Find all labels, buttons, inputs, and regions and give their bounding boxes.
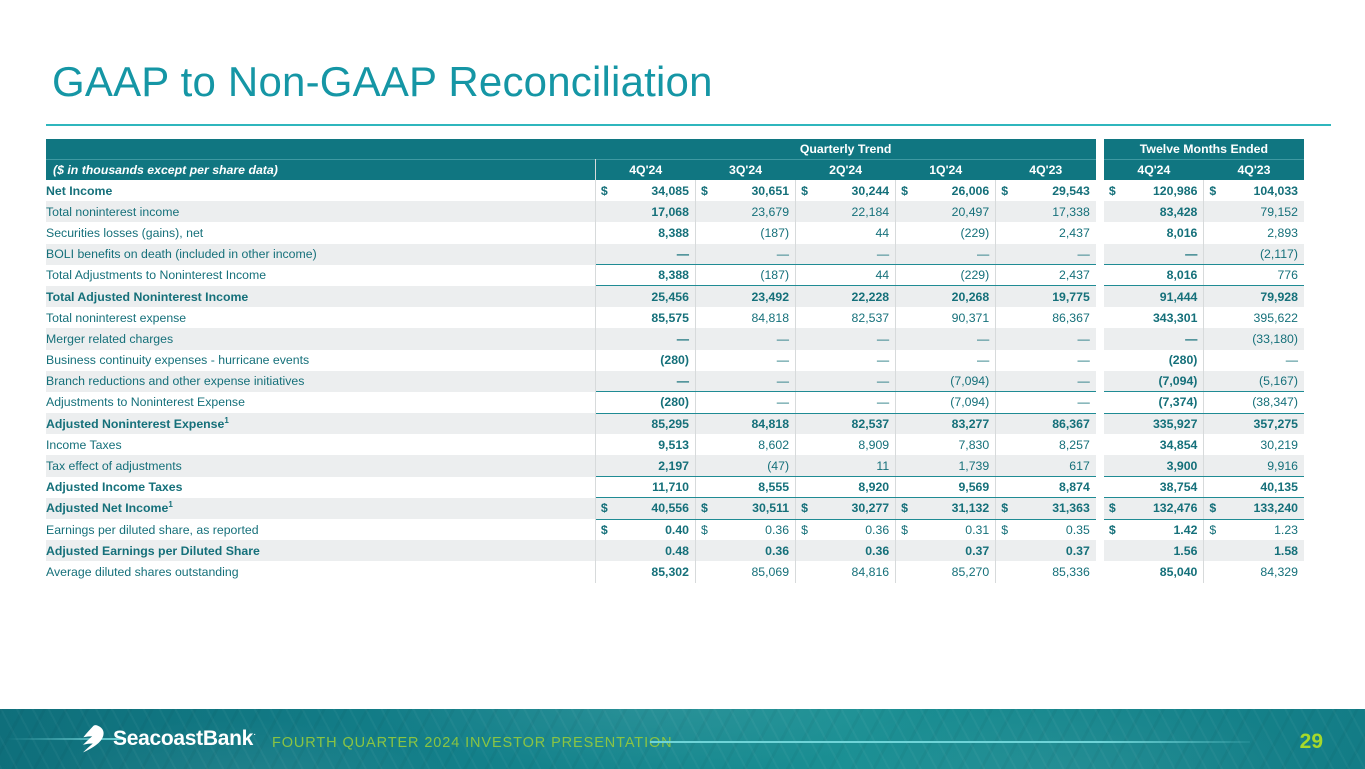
cell-value: 85,575 — [651, 311, 689, 325]
cell-value: 0.37 — [1066, 544, 1090, 558]
cell-q-2: 44 — [796, 265, 896, 286]
cell-value: — — [977, 353, 989, 367]
cell-q-0: (280) — [595, 392, 695, 413]
cell-q-1: $30,511 — [696, 498, 796, 519]
col-header-q-0: 4Q'24 — [595, 159, 695, 180]
column-group-gap — [1096, 477, 1104, 498]
cell-value: — — [1078, 353, 1090, 367]
cell-t-1: 30,219 — [1204, 434, 1304, 455]
cell-q-1: — — [696, 392, 796, 413]
cell-t-1: 2,893 — [1204, 222, 1304, 243]
cell-value: 31,363 — [1052, 501, 1090, 515]
cell-value: 34,085 — [651, 184, 689, 198]
cell-q-2: 8,920 — [796, 477, 896, 498]
column-group-gap — [1096, 265, 1104, 286]
col-header-q-2: 2Q'24 — [796, 159, 896, 180]
cell-value: 86,367 — [1052, 311, 1090, 325]
currency-symbol: $ — [801, 184, 808, 198]
cell-t-0: (7,374) — [1104, 392, 1204, 413]
currency-symbol: $ — [1001, 184, 1008, 198]
cell-t-0: 335,927 — [1104, 413, 1204, 434]
cell-t-1: 9,916 — [1204, 455, 1304, 476]
currency-symbol: $ — [1001, 501, 1008, 515]
cell-value: 776 — [1277, 268, 1298, 282]
table-row: Tax effect of adjustments2,197(47)111,73… — [46, 455, 1304, 476]
cell-value: 11 — [876, 459, 889, 473]
cell-t-0: (7,094) — [1104, 371, 1204, 392]
column-group-gap — [1096, 455, 1104, 476]
cell-value: 9,916 — [1267, 459, 1298, 473]
footer-brand-text: SeacoastBank — [113, 727, 253, 750]
cell-value: 30,219 — [1260, 438, 1298, 452]
cell-value: 84,818 — [751, 311, 789, 325]
cell-t-1: 357,275 — [1204, 413, 1304, 434]
row-label: Total noninterest expense — [46, 307, 595, 328]
cell-q-3: 85,270 — [896, 561, 996, 582]
cell-q-1: 23,679 — [696, 201, 796, 222]
footer-rule-right — [650, 741, 1250, 743]
cell-q-4: $31,363 — [996, 498, 1096, 519]
cell-q-0: 8,388 — [595, 265, 695, 286]
cell-t-1: 79,928 — [1204, 286, 1304, 307]
cell-value: 104,033 — [1254, 184, 1298, 198]
currency-symbol: $ — [1209, 184, 1216, 198]
cell-value: 0.36 — [765, 523, 789, 537]
cell-q-4: 85,336 — [996, 561, 1096, 582]
cell-value: 85,270 — [952, 565, 990, 579]
cell-t-0: $1.42 — [1104, 519, 1204, 540]
cell-q-4: 8,257 — [996, 434, 1096, 455]
cell-value: 0.48 — [665, 544, 689, 558]
cell-value: 91,444 — [1160, 290, 1198, 304]
table-row: Adjustments to Noninterest Expense(280)—… — [46, 392, 1304, 413]
cell-q-0: — — [595, 371, 695, 392]
table-row: Merger related charges——————(33,180) — [46, 328, 1304, 349]
cell-value: 1.56 — [1173, 544, 1197, 558]
cell-t-1: 776 — [1204, 265, 1304, 286]
cell-value: 7,830 — [958, 438, 989, 452]
cell-value: 85,336 — [1052, 565, 1090, 579]
cell-value: 85,069 — [751, 565, 789, 579]
col-header-t-0: 4Q'24 — [1104, 159, 1204, 180]
cell-q-2: — — [796, 350, 896, 371]
column-group-gap — [1096, 413, 1104, 434]
cell-t-0: 343,301 — [1104, 307, 1204, 328]
column-group-gap — [1096, 434, 1104, 455]
financial-table-container: Quarterly Trend Twelve Months Ended ($ i… — [46, 139, 1304, 583]
cell-value: 1,739 — [958, 459, 989, 473]
cell-value: 357,275 — [1254, 417, 1298, 431]
row-label: Adjusted Net Income1 — [46, 498, 595, 519]
cell-value: 8,555 — [758, 480, 789, 494]
cell-value: 1.42 — [1173, 523, 1197, 537]
row-label: Total noninterest income — [46, 201, 595, 222]
cell-q-1: 23,492 — [696, 286, 796, 307]
row-label: Average diluted shares outstanding — [46, 561, 595, 582]
column-group-gap — [1096, 540, 1104, 561]
cell-value: 2,437 — [1059, 268, 1090, 282]
row-label: BOLI benefits on death (included in othe… — [46, 244, 595, 265]
cell-value: 86,367 — [1052, 417, 1090, 431]
table-row: Adjusted Noninterest Expense185,29584,81… — [46, 413, 1304, 434]
footer-logo: SeacoastBank· — [80, 725, 256, 753]
cell-value: — — [977, 247, 989, 261]
cell-q-0: $0.40 — [595, 519, 695, 540]
cell-q-4: — — [996, 244, 1096, 265]
cell-value: 25,456 — [651, 290, 689, 304]
cell-value: (229) — [961, 226, 990, 240]
gaap-reconciliation-table: Quarterly Trend Twelve Months Ended ($ i… — [46, 139, 1304, 583]
cell-value: 85,302 — [651, 565, 689, 579]
cell-q-3: 20,497 — [896, 201, 996, 222]
cell-q-0: 85,295 — [595, 413, 695, 434]
cell-t-0: 91,444 — [1104, 286, 1204, 307]
cell-q-2: — — [796, 392, 896, 413]
cell-t-0: 85,040 — [1104, 561, 1204, 582]
row-label: Merger related charges — [46, 328, 595, 349]
column-group-gap — [1096, 519, 1104, 540]
cell-value: 120,986 — [1153, 184, 1197, 198]
cell-t-1: (2,117) — [1204, 244, 1304, 265]
column-group-gap — [1096, 498, 1104, 519]
cell-q-3: 83,277 — [896, 413, 996, 434]
cell-t-0: $132,476 — [1104, 498, 1204, 519]
cell-value: — — [1078, 374, 1090, 388]
cell-value: (38,347) — [1252, 395, 1298, 409]
cell-value: 79,928 — [1260, 290, 1298, 304]
cell-q-2: $30,244 — [796, 180, 896, 201]
cell-value: — — [777, 247, 789, 261]
cell-value: 343,301 — [1153, 311, 1197, 325]
cell-value: 0.36 — [865, 544, 889, 558]
footer-trademark: · — [253, 729, 256, 740]
row-label: Total Adjusted Noninterest Income — [46, 286, 595, 307]
footnote-marker: 1 — [224, 416, 228, 425]
cell-q-2: 8,909 — [796, 434, 896, 455]
table-row: BOLI benefits on death (included in othe… — [46, 244, 1304, 265]
currency-symbol: $ — [701, 523, 708, 537]
cell-value: 0.35 — [1066, 523, 1090, 537]
cell-value: 9,569 — [958, 480, 989, 494]
cell-t-1: $104,033 — [1204, 180, 1304, 201]
table-row: Income Taxes9,5138,6028,9097,8308,25734,… — [46, 434, 1304, 455]
cell-value: 23,679 — [751, 205, 789, 219]
cell-value: 79,152 — [1260, 205, 1298, 219]
cell-value: 23,492 — [751, 290, 789, 304]
cell-value: — — [777, 332, 789, 346]
col-header-q-1: 3Q'24 — [696, 159, 796, 180]
page-title: GAAP to Non-GAAP Reconciliation — [52, 58, 713, 106]
cell-q-1: — — [696, 244, 796, 265]
column-group-gap — [1096, 307, 1104, 328]
cell-q-2: — — [796, 371, 896, 392]
cell-q-1: $0.36 — [696, 519, 796, 540]
cell-q-2: 44 — [796, 222, 896, 243]
cell-value: 8,016 — [1167, 268, 1198, 282]
cell-value: (7,094) — [950, 374, 989, 388]
cell-t-0: 1.56 — [1104, 540, 1204, 561]
cell-value: — — [677, 332, 689, 346]
group-header-blank — [46, 139, 595, 159]
cell-value: 85,295 — [651, 417, 689, 431]
row-label: Adjusted Noninterest Expense1 — [46, 413, 595, 434]
cell-q-2: 0.36 — [796, 540, 896, 561]
row-label: Branch reductions and other expense init… — [46, 371, 595, 392]
col-header-gap — [1096, 159, 1104, 180]
cell-value: 20,268 — [952, 290, 990, 304]
cell-value: 84,818 — [751, 417, 789, 431]
cell-q-1: $30,651 — [696, 180, 796, 201]
cell-value: 84,329 — [1260, 565, 1298, 579]
cell-q-0: 8,388 — [595, 222, 695, 243]
cell-q-0: $34,085 — [595, 180, 695, 201]
cell-q-1: 8,555 — [696, 477, 796, 498]
cell-t-0: $120,986 — [1104, 180, 1204, 201]
cell-value: 34,854 — [1160, 438, 1198, 452]
cell-q-1: 85,069 — [696, 561, 796, 582]
cell-q-3: — — [896, 244, 996, 265]
table-row: Average diluted shares outstanding85,302… — [46, 561, 1304, 582]
cell-q-1: 0.36 — [696, 540, 796, 561]
cell-value: 0.40 — [665, 523, 689, 537]
cell-value: 83,428 — [1160, 205, 1198, 219]
cell-q-4: 86,367 — [996, 307, 1096, 328]
cell-value: — — [1185, 332, 1197, 346]
cell-q-0: 85,302 — [595, 561, 695, 582]
currency-symbol: $ — [601, 184, 608, 198]
table-column-header-row: ($ in thousands except per share data) 4… — [46, 159, 1304, 180]
currency-symbol: $ — [1209, 501, 1216, 515]
cell-value: 40,556 — [651, 501, 689, 515]
footer-subtitle: FOURTH QUARTER 2024 INVESTOR PRESENTATIO… — [272, 735, 673, 751]
cell-value: 8,388 — [658, 226, 689, 240]
row-label: Business continuity expenses - hurricane… — [46, 350, 595, 371]
cell-value: 0.36 — [865, 523, 889, 537]
cell-q-1: — — [696, 328, 796, 349]
cell-value: (187) — [760, 268, 789, 282]
table-group-header-row: Quarterly Trend Twelve Months Ended — [46, 139, 1304, 159]
cell-q-1: — — [696, 350, 796, 371]
currency-symbol: $ — [901, 501, 908, 515]
cell-value: 1.58 — [1274, 544, 1298, 558]
cell-q-3: 0.37 — [896, 540, 996, 561]
currency-symbol: $ — [601, 523, 608, 537]
currency-symbol: $ — [1109, 501, 1116, 515]
table-row: Total noninterest expense85,57584,81882,… — [46, 307, 1304, 328]
cell-t-0: 8,016 — [1104, 222, 1204, 243]
cell-q-4: — — [996, 328, 1096, 349]
currency-symbol: $ — [701, 184, 708, 198]
cell-q-3: (7,094) — [896, 371, 996, 392]
cell-t-0: 8,016 — [1104, 265, 1204, 286]
cell-q-2: $0.36 — [796, 519, 896, 540]
cell-q-4: 2,437 — [996, 222, 1096, 243]
cell-value: 3,900 — [1167, 459, 1198, 473]
cell-q-0: $40,556 — [595, 498, 695, 519]
cell-q-4: 86,367 — [996, 413, 1096, 434]
cell-q-0: (280) — [595, 350, 695, 371]
cell-q-3: $31,132 — [896, 498, 996, 519]
cell-value: 11,710 — [652, 480, 689, 494]
cell-q-3: 90,371 — [896, 307, 996, 328]
cell-q-2: — — [796, 244, 896, 265]
column-group-gap — [1096, 328, 1104, 349]
cell-value: 1.23 — [1274, 523, 1298, 537]
cell-value: 8,257 — [1059, 438, 1090, 452]
cell-q-0: 11,710 — [595, 477, 695, 498]
footnote-marker: 1 — [168, 500, 172, 509]
cell-q-3: (7,094) — [896, 392, 996, 413]
col-header-q-4: 4Q'23 — [996, 159, 1096, 180]
cell-t-1: 84,329 — [1204, 561, 1304, 582]
cell-value: 8,602 — [758, 438, 789, 452]
cell-q-3: 9,569 — [896, 477, 996, 498]
cell-value: — — [1078, 395, 1090, 409]
cell-value: — — [777, 395, 789, 409]
cell-q-0: 85,575 — [595, 307, 695, 328]
cell-t-0: 38,754 — [1104, 477, 1204, 498]
cell-value: — — [1185, 247, 1197, 261]
table-row: Adjusted Income Taxes11,7108,5558,9209,5… — [46, 477, 1304, 498]
seacoast-wave-logo-icon — [80, 725, 106, 753]
table-row: Adjusted Net Income1$40,556$30,511$30,27… — [46, 498, 1304, 519]
cell-q-1: 8,602 — [696, 434, 796, 455]
cell-q-1: 84,818 — [696, 307, 796, 328]
currency-symbol: $ — [701, 501, 708, 515]
cell-value: 395,622 — [1254, 311, 1298, 325]
cell-t-1: (38,347) — [1204, 392, 1304, 413]
cell-q-1: 84,818 — [696, 413, 796, 434]
cell-q-0: 2,197 — [595, 455, 695, 476]
cell-t-1: 79,152 — [1204, 201, 1304, 222]
cell-q-4: — — [996, 392, 1096, 413]
table-row: Total noninterest income17,06823,67922,1… — [46, 201, 1304, 222]
cell-q-4: $0.35 — [996, 519, 1096, 540]
column-group-gap — [1096, 201, 1104, 222]
cell-q-3: (229) — [896, 222, 996, 243]
cell-q-2: 84,816 — [796, 561, 896, 582]
cell-value: — — [877, 374, 889, 388]
cell-value: 22,184 — [852, 205, 890, 219]
cell-value: (280) — [660, 395, 689, 409]
cell-value: 2,893 — [1267, 226, 1298, 240]
cell-value: (7,094) — [950, 395, 989, 409]
currency-symbol: $ — [901, 184, 908, 198]
cell-value: — — [1078, 247, 1090, 261]
cell-t-1: (33,180) — [1204, 328, 1304, 349]
column-group-gap — [1096, 350, 1104, 371]
currency-symbol: $ — [1109, 184, 1116, 198]
cell-q-3: $26,006 — [896, 180, 996, 201]
currency-symbol: $ — [1209, 523, 1216, 537]
cell-value: (187) — [760, 226, 789, 240]
table-row: Branch reductions and other expense init… — [46, 371, 1304, 392]
cell-value: 82,537 — [852, 311, 890, 325]
cell-q-4: — — [996, 350, 1096, 371]
cell-q-1: (187) — [696, 265, 796, 286]
cell-value: — — [877, 353, 889, 367]
cell-value: 133,240 — [1254, 501, 1298, 515]
cell-value: (7,094) — [1158, 374, 1197, 388]
cell-value: 84,816 — [852, 565, 890, 579]
cell-q-3: 20,268 — [896, 286, 996, 307]
table-row: Total Adjusted Noninterest Income25,4562… — [46, 286, 1304, 307]
cell-q-0: 17,068 — [595, 201, 695, 222]
cell-value: 17,338 — [1052, 205, 1090, 219]
title-divider — [46, 124, 1331, 126]
cell-q-2: $30,277 — [796, 498, 896, 519]
cell-q-0: 25,456 — [595, 286, 695, 307]
cell-value: — — [1286, 353, 1298, 367]
cell-value: 26,006 — [952, 184, 990, 198]
col-header-q-3: 1Q'24 — [896, 159, 996, 180]
cell-value: 30,277 — [852, 501, 890, 515]
cell-t-0: — — [1104, 244, 1204, 265]
cell-q-4: 0.37 — [996, 540, 1096, 561]
cell-q-4: $29,543 — [996, 180, 1096, 201]
cell-value: (280) — [660, 353, 689, 367]
cell-value: (47) — [767, 459, 789, 473]
group-header-twelve-months: Twelve Months Ended — [1104, 139, 1304, 159]
group-header-gap — [1096, 139, 1104, 159]
cell-t-1: $133,240 — [1204, 498, 1304, 519]
cell-value: 132,476 — [1153, 501, 1197, 515]
row-label: Income Taxes — [46, 434, 595, 455]
table-row: Adjusted Earnings per Diluted Share0.480… — [46, 540, 1304, 561]
currency-symbol: $ — [1001, 523, 1008, 537]
cell-value: 8,909 — [858, 438, 889, 452]
row-label: Adjusted Earnings per Diluted Share — [46, 540, 595, 561]
col-header-t-1: 4Q'23 — [1204, 159, 1304, 180]
column-group-gap — [1096, 371, 1104, 392]
cell-value: 30,244 — [852, 184, 890, 198]
cell-value: 29,543 — [1052, 184, 1090, 198]
cell-value: 30,651 — [751, 184, 789, 198]
column-group-gap — [1096, 286, 1104, 307]
cell-value: 85,040 — [1160, 565, 1198, 579]
table-row: Earnings per diluted share, as reported$… — [46, 519, 1304, 540]
table-row: Net Income$34,085$30,651$30,244$26,006$2… — [46, 180, 1304, 201]
cell-t-1: $1.23 — [1204, 519, 1304, 540]
cell-value: 0.36 — [765, 544, 789, 558]
cell-q-0: 9,513 — [595, 434, 695, 455]
row-label: Total Adjustments to Noninterest Income — [46, 265, 595, 286]
cell-q-1: (47) — [696, 455, 796, 476]
cell-value: 9,513 — [658, 438, 689, 452]
row-label: Net Income — [46, 180, 595, 201]
cell-q-2: 82,537 — [796, 413, 896, 434]
slide-root: GAAP to Non-GAAP Reconciliation Quarterl… — [0, 0, 1365, 769]
cell-q-2: 82,537 — [796, 307, 896, 328]
cell-value: 31,132 — [952, 501, 990, 515]
cell-q-4: 19,775 — [996, 286, 1096, 307]
cell-value: 22,228 — [852, 290, 890, 304]
cell-value: 8,388 — [658, 268, 689, 282]
row-label: Earnings per diluted share, as reported — [46, 519, 595, 540]
cell-q-3: 1,739 — [896, 455, 996, 476]
units-label: ($ in thousands except per share data) — [46, 159, 595, 180]
cell-q-4: 617 — [996, 455, 1096, 476]
cell-t-0: — — [1104, 328, 1204, 349]
cell-value: 617 — [1069, 459, 1090, 473]
column-group-gap — [1096, 244, 1104, 265]
cell-q-3: $0.31 — [896, 519, 996, 540]
table-row: Business continuity expenses - hurricane… — [46, 350, 1304, 371]
cell-value: (7,374) — [1158, 395, 1197, 409]
table-row: Total Adjustments to Noninterest Income8… — [46, 265, 1304, 286]
cell-value: 40,135 — [1260, 480, 1298, 494]
cell-value: — — [1078, 332, 1090, 346]
